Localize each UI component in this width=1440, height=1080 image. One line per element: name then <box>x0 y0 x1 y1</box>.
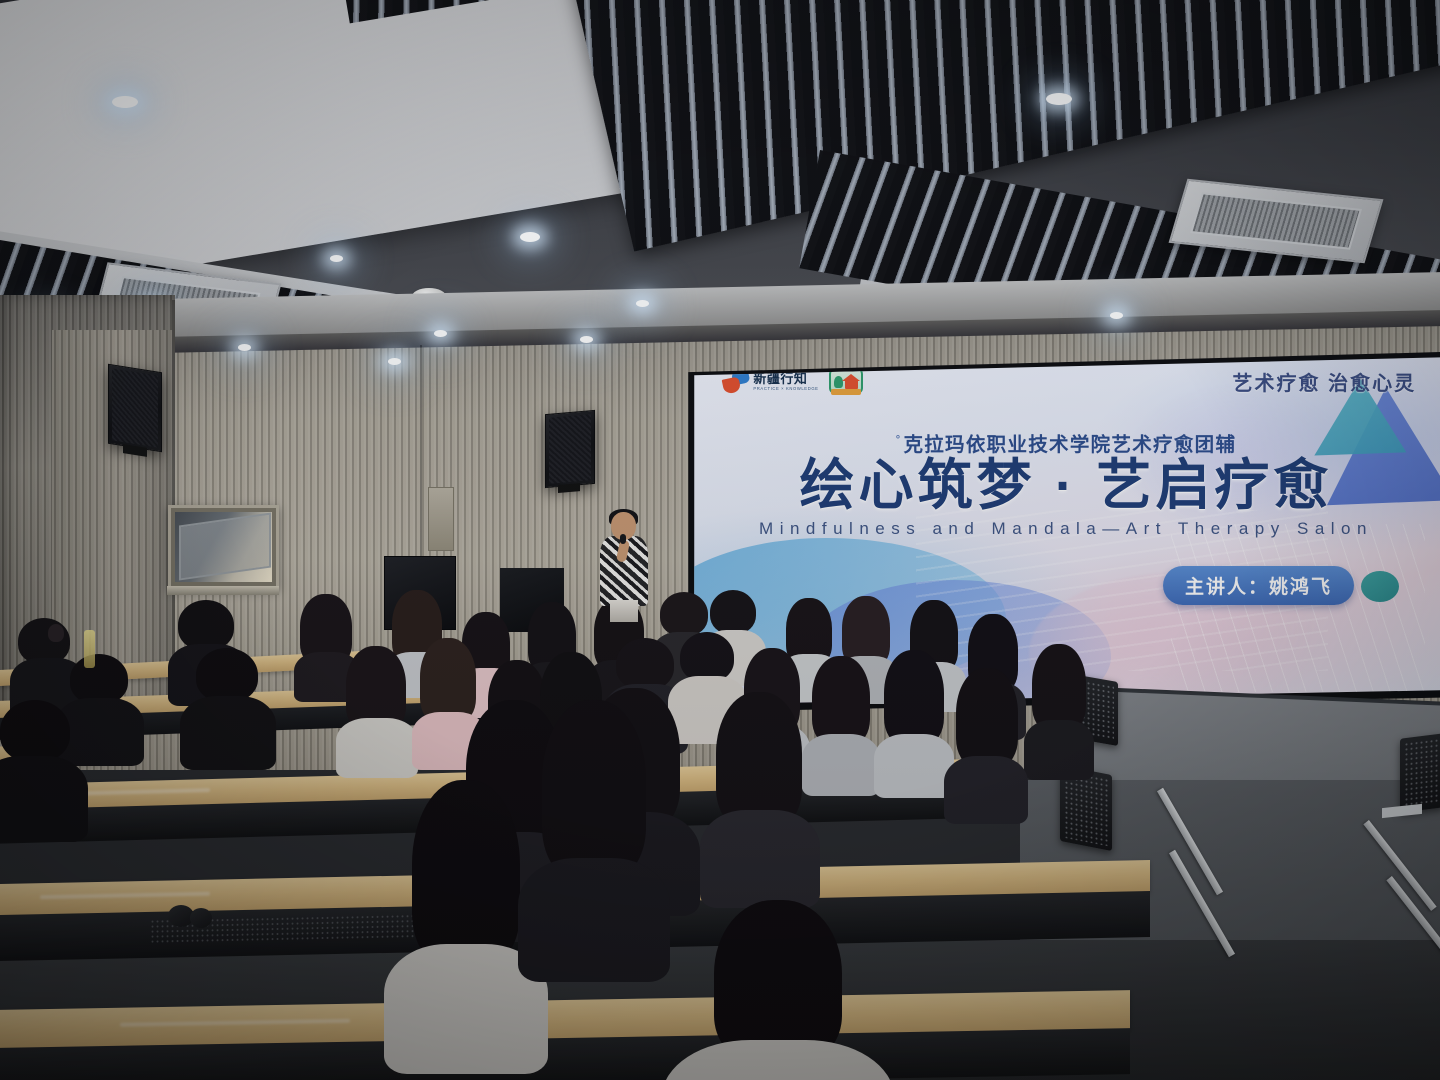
decorative-teal-dot <box>1361 571 1399 602</box>
presenter <box>598 512 650 620</box>
recessed-downlight <box>434 330 447 337</box>
awning-window <box>168 505 279 589</box>
house-icon <box>845 380 858 389</box>
wall-speaker-left <box>108 364 162 453</box>
wall-speaker-right <box>545 410 595 488</box>
seat-back-panel <box>1400 733 1440 812</box>
recessed-downlight <box>238 344 251 351</box>
lecture-hall-photo: 新疆行知 PRACTICE × KNOWLEDGE 艺术疗愈 治愈心灵 °克拉玛… <box>0 0 1440 1080</box>
recessed-downlight <box>636 300 649 307</box>
recessed-downlight <box>388 358 401 365</box>
recessed-downlight <box>330 255 343 262</box>
tongjian-xiaowu-logo <box>829 368 863 394</box>
seat-hinge <box>190 908 212 928</box>
recessed-downlight <box>580 336 593 343</box>
recessed-downlight <box>112 96 138 108</box>
screen-subtitle-english: Mindfulness and Mandala—Art Therapy Salo… <box>692 519 1440 539</box>
degree-mark-icon: ° <box>896 434 902 446</box>
wall-access-panel <box>428 487 454 551</box>
recessed-downlight <box>1110 312 1123 319</box>
recessed-downlight <box>1046 93 1072 105</box>
screen-tagline: 艺术疗愈 治愈心灵 <box>1233 367 1417 396</box>
water-bottle <box>84 630 95 668</box>
handheld-microphone <box>620 534 626 544</box>
logo-primary-en: PRACTICE × KNOWLEDGE <box>753 387 818 391</box>
recessed-downlight <box>520 232 540 242</box>
speaker-badge: 主讲人：姚鸿飞 <box>1163 566 1354 605</box>
screen-main-title: 绘心筑梦 · 艺启疗愈 <box>692 458 1440 513</box>
screen-subtitle-top: °克拉玛依职业技术学院艺术疗愈团辅 <box>692 428 1440 457</box>
